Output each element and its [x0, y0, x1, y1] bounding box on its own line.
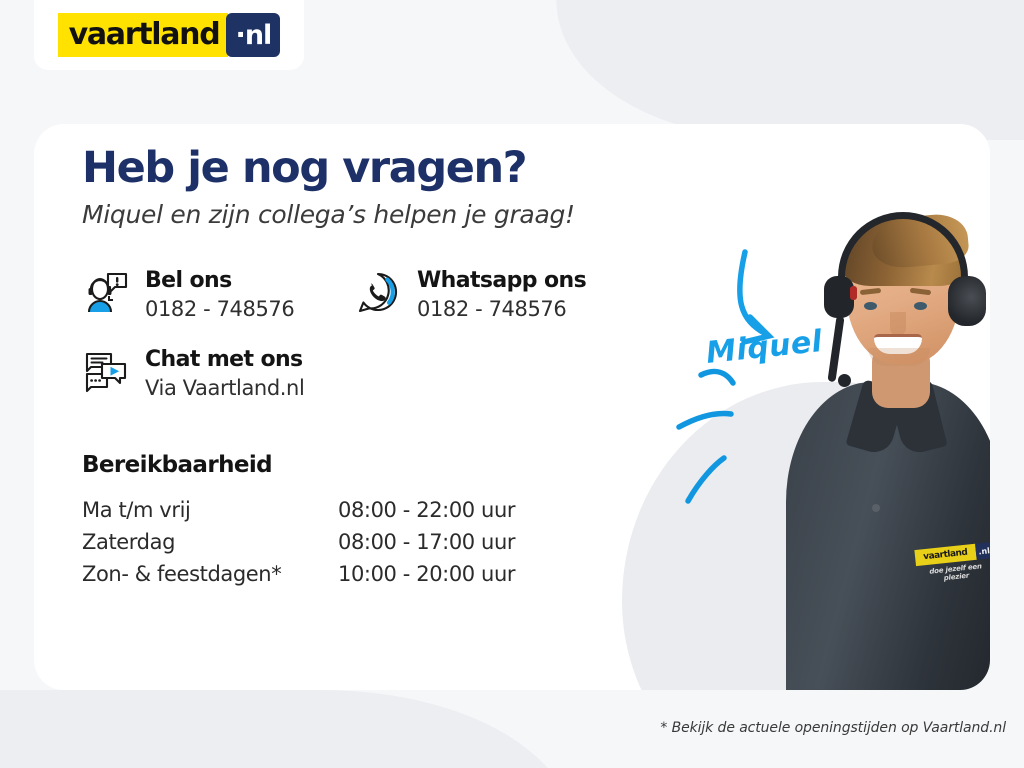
footnote: * Bekijk de actuele openingstijden op Va… — [0, 720, 1006, 736]
page-title: Heb je nog vragen? — [82, 146, 682, 191]
opening-hours-table: Ma t/m vrij 08:00 - 22:00 uur Zaterdag 0… — [82, 494, 515, 590]
logo-wordmark: vaartland — [58, 13, 229, 57]
contact-item-whatsapp[interactable]: Whatsapp ons 0182 - 748576 — [354, 267, 626, 321]
brand-logo-card[interactable]: vaartland ·nl — [34, 0, 304, 70]
hours-day: Zon- & feestdagen* — [82, 558, 338, 590]
agent-nose — [890, 312, 906, 336]
hours-time: 08:00 - 22:00 uur — [338, 494, 515, 526]
card-content: Heb je nog vragen? Miquel en zijn colleg… — [82, 146, 682, 590]
polo-button — [872, 504, 880, 512]
contact-methods-grid: Bel ons 0182 - 748576 Whatsapp on — [82, 267, 682, 400]
contact-chat-value: Via Vaartland.nl — [145, 376, 304, 400]
agent-photo: vaartland .nl doe jezelf een plezier — [776, 134, 990, 690]
contact-call-label: Bel ons — [145, 268, 294, 293]
chat-bubbles-icon — [82, 348, 130, 396]
table-row: Zaterdag 08:00 - 17:00 uur — [82, 526, 515, 558]
headset-microphone-boom-icon — [827, 316, 844, 382]
opening-hours-section: Bereikbaarheid Ma t/m vrij 08:00 - 22:00… — [82, 452, 682, 590]
agent-eye-right — [914, 302, 927, 310]
logo-tld-text: nl — [245, 22, 271, 49]
background-shape-top-right — [541, 0, 1024, 140]
contact-call-value: 0182 - 748576 — [145, 297, 294, 321]
promo-banner: vaartland .nl doe jezelf een plezier Miq… — [0, 0, 1024, 768]
logo-separator-dot: · — [236, 22, 245, 49]
page-subtitle: Miquel en zijn collega’s helpen je graag… — [82, 200, 682, 229]
contact-whatsapp-label: Whatsapp ons — [417, 268, 586, 293]
headset-earcup-right-icon — [948, 276, 986, 326]
polo-logo-tld: .nl — [975, 542, 990, 560]
vaartland-logo: vaartland ·nl — [58, 13, 281, 57]
content-card: vaartland .nl doe jezelf een plezier Miq… — [34, 124, 990, 690]
hours-day: Zaterdag — [82, 526, 338, 558]
hours-time: 10:00 - 20:00 uur — [338, 558, 515, 590]
contact-item-call[interactable]: Bel ons 0182 - 748576 — [82, 267, 354, 321]
curved-arrow-icon — [740, 252, 769, 342]
hours-time: 08:00 - 17:00 uur — [338, 526, 515, 558]
headset-microphone-tip-icon — [838, 374, 851, 387]
whatsapp-phone-bubble-icon — [354, 269, 402, 317]
agent-eye-left — [864, 302, 877, 310]
agent-jaw-shadow — [868, 348, 930, 366]
table-row: Ma t/m vrij 08:00 - 22:00 uur — [82, 494, 515, 526]
contact-whatsapp-value: 0182 - 748576 — [417, 297, 586, 321]
opening-hours-title: Bereikbaarheid — [82, 452, 682, 478]
contact-item-chat[interactable]: Chat met ons Via Vaartland.nl — [82, 346, 354, 400]
logo-tld-badge: ·nl — [226, 13, 280, 57]
hours-day: Ma t/m vrij — [82, 494, 338, 526]
table-row: Zon- & feestdagen* 10:00 - 20:00 uur — [82, 558, 515, 590]
headset-person-icon — [82, 269, 130, 317]
headset-indicator-icon — [850, 286, 857, 300]
contact-chat-label: Chat met ons — [145, 347, 304, 372]
polo-chest-logo: vaartland .nl doe jezelf een plezier — [914, 542, 990, 585]
